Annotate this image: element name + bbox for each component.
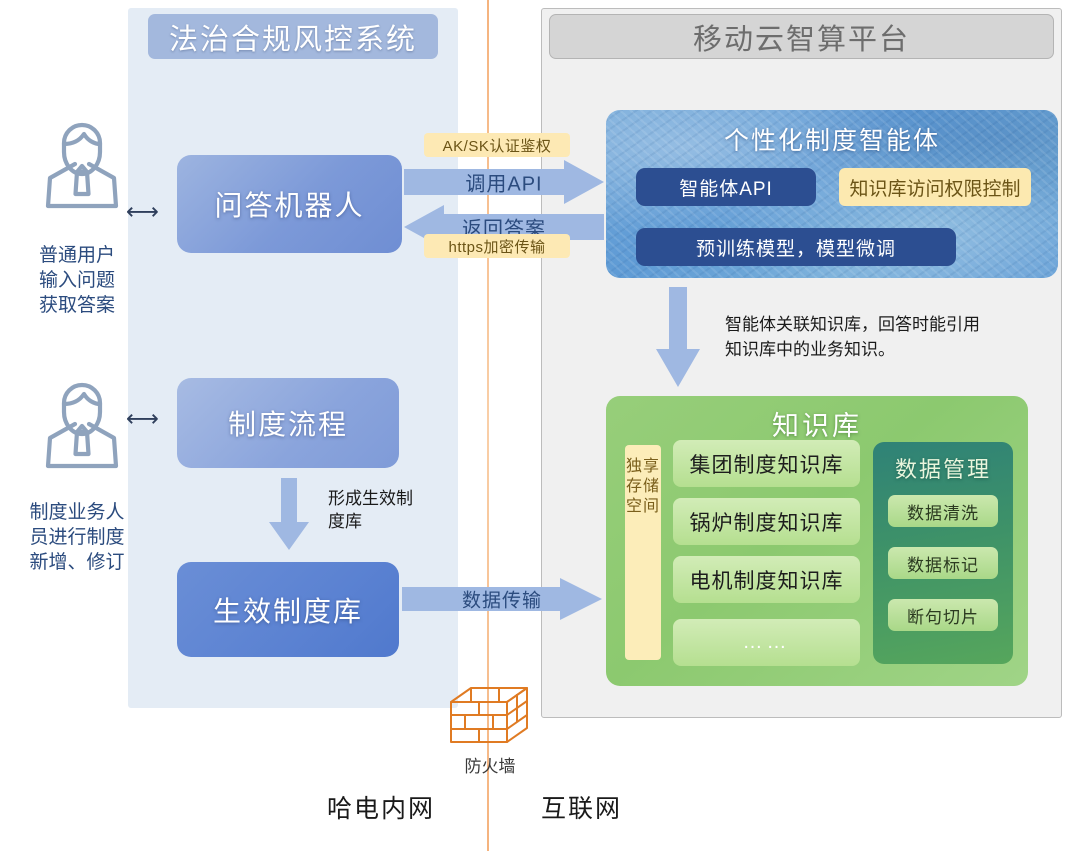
exclusive-storage-label: 独享存储空间 [625, 445, 661, 660]
pretrained-model-pill[interactable]: 预训练模型，模型微调 [636, 228, 956, 266]
dm-item-data-labeling[interactable]: 数据标记 [888, 547, 998, 579]
personalized-policy-agent-node[interactable]: 个性化制度智能体 智能体API 知识库访问权限控制 预训练模型，模型微调 [606, 110, 1058, 278]
intranet-panel-title: 法治合规风控系统 [148, 14, 438, 59]
aksk-auth-tag: AK/SK认证鉴权 [424, 133, 570, 157]
qa-robot-node[interactable]: 问答机器人 [177, 155, 402, 253]
knowledge-base-title: 知识库 [606, 404, 1028, 443]
data-management-node[interactable]: 数据管理 数据清洗 数据标记 断句切片 [873, 442, 1013, 664]
kb-item-boiler-policy[interactable]: 锅炉制度知识库 [673, 498, 860, 545]
intranet-label: 哈电内网 [327, 789, 435, 825]
kb-item-group-policy[interactable]: 集团制度知识库 [673, 440, 860, 487]
bidirectional-arrow-icon: ⟷ [126, 198, 159, 225]
flow-to-db-label: 形成生效制 度库 [328, 487, 438, 533]
data-management-title: 数据管理 [873, 452, 1013, 484]
dm-item-data-cleaning[interactable]: 数据清洗 [888, 495, 998, 527]
agent-to-kb-arrow-icon [655, 287, 701, 387]
dm-item-sentence-split[interactable]: 断句切片 [888, 599, 998, 631]
call-api-label: 调用API [404, 168, 604, 197]
knowledge-base-node[interactable]: 知识库 独享存储空间 集团制度知识库 锅炉制度知识库 电机制度知识库 …… 数据… [606, 396, 1028, 686]
kb-item-motor-policy[interactable]: 电机制度知识库 [673, 556, 860, 603]
firewall-label: 防火墙 [440, 752, 540, 777]
user-avatar-icon [34, 368, 130, 473]
user-avatar-caption: 普通用户 输入问题 获取答案 [14, 243, 140, 318]
policy-flow-node[interactable]: 制度流程 [177, 378, 399, 468]
effective-policy-db-node[interactable]: 生效制度库 [177, 562, 399, 657]
data-transfer-label: 数据传输 [402, 586, 602, 613]
kb-permission-pill[interactable]: 知识库访问权限控制 [839, 168, 1031, 206]
kb-item-more[interactable]: …… [673, 619, 860, 666]
call-api-arrow: 调用API [404, 160, 604, 204]
flow-to-db-arrow-icon [268, 478, 310, 550]
user-avatar-caption: 制度业务人 员进行制度 新增、修订 [14, 500, 140, 575]
internet-label: 互联网 [541, 789, 622, 825]
bidirectional-arrow-icon: ⟷ [126, 405, 159, 432]
data-transfer-arrow: 数据传输 [402, 578, 602, 620]
https-encryption-tag: https加密传输 [424, 234, 570, 258]
agent-title: 个性化制度智能体 [606, 121, 1058, 157]
user-avatar-icon [34, 108, 130, 213]
cloud-platform-panel-title: 移动云智算平台 [549, 14, 1054, 59]
firewall-brick-icon [449, 684, 529, 746]
agent-to-kb-note: 智能体关联知识库，回答时能引用 知识库中的业务知识。 [725, 312, 1025, 362]
agent-api-pill[interactable]: 智能体API [636, 168, 816, 206]
